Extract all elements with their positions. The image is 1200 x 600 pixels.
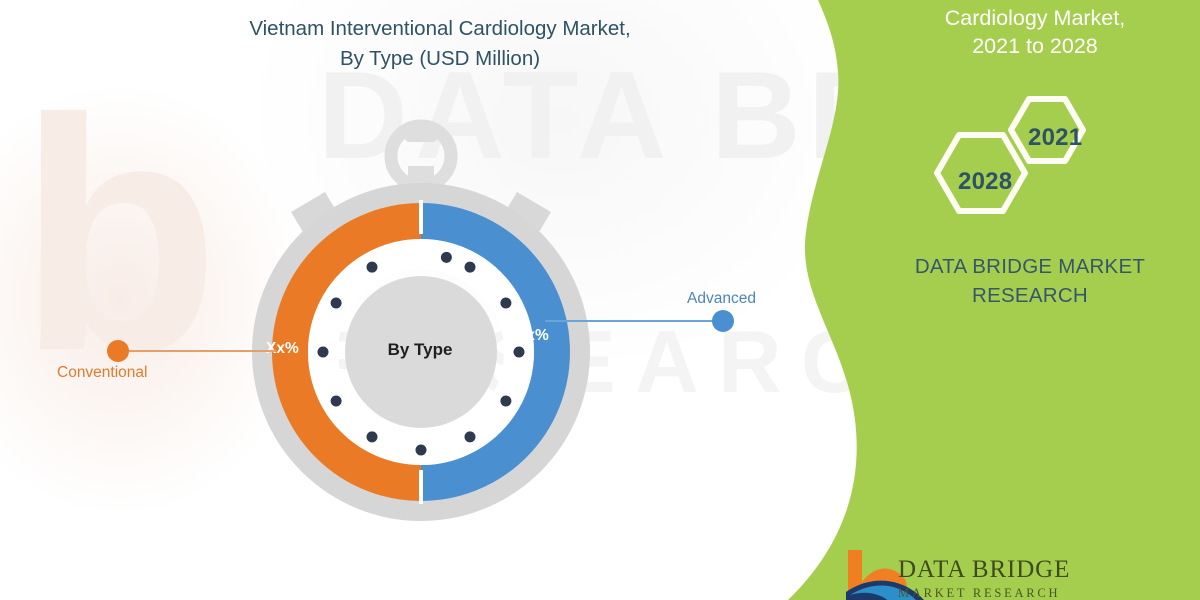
leader-dot-conventional[interactable] — [107, 340, 129, 362]
hexagon-group — [925, 95, 1105, 230]
leader-line-conventional — [126, 350, 276, 352]
value-label-conventional: Xx% — [266, 340, 299, 358]
legend-label-conventional[interactable]: Conventional — [57, 364, 147, 382]
hexagon-label-2021: 2021 — [1028, 124, 1082, 152]
hexagon-label-2028: 2028 — [958, 168, 1012, 196]
page-title-line1: Vietnam Interventional Cardiology Market… — [150, 14, 730, 44]
panel-heading-line1: Cardiology Market, — [870, 4, 1200, 32]
logo-tagline: MARKET RESEARCH — [898, 586, 1060, 600]
brand-name: DATA BRIDGE MARKET RESEARCH — [880, 252, 1180, 310]
donut-center-label: By Type — [330, 340, 510, 360]
logo-wordmark: DATA BRIDGE — [898, 556, 1070, 584]
value-label-advanced: Xx% — [516, 327, 549, 345]
panel-heading-line2: 2021 to 2028 — [870, 32, 1200, 60]
panel-heading: Cardiology Market, 2021 to 2028 — [870, 4, 1200, 61]
page-title-line2: By Type (USD Million) — [150, 44, 730, 74]
legend-label-advanced[interactable]: Advanced — [687, 290, 756, 308]
page-title: Vietnam Interventional Cardiology Market… — [150, 14, 730, 73]
leader-line-advanced — [545, 320, 715, 322]
leader-dot-advanced[interactable] — [712, 310, 734, 332]
brand-name-line1: DATA BRIDGE MARKET — [880, 252, 1180, 281]
brand-name-line2: RESEARCH — [880, 281, 1180, 310]
infographic-canvas: b DATA BRIDGE RESEARCH Cardiology Market… — [0, 0, 1200, 600]
